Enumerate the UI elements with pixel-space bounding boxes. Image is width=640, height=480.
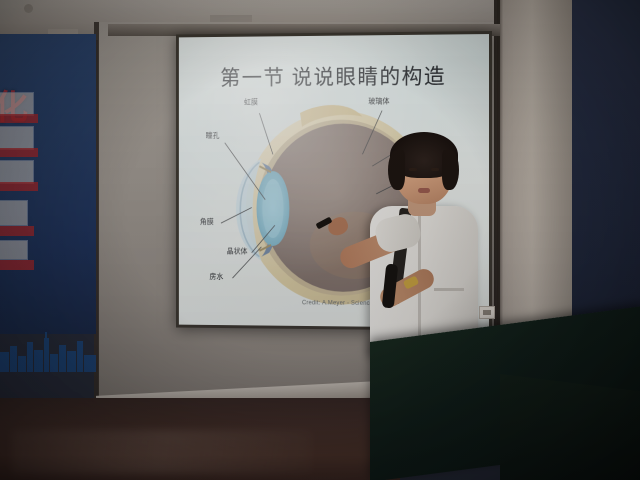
board-card: [0, 92, 34, 116]
draped-podium-side: [500, 374, 640, 480]
eye-right: [431, 168, 439, 171]
board-ribbon: [0, 182, 38, 191]
diagram-label-vitreous-body: 玻璃体: [368, 97, 389, 107]
diagram-label-pupil: 瞳孔: [206, 131, 220, 141]
diagram-label-cornea: 角膜: [200, 217, 214, 227]
eye-left: [409, 168, 417, 171]
presenter: [352, 128, 490, 353]
skyline-graphic: [0, 330, 96, 372]
screenshot-root: 化: [0, 0, 640, 480]
board-card: [0, 160, 34, 184]
diagram-label-iris: 虹膜: [244, 97, 258, 107]
diagram-label-aqueous-humor: 房水: [209, 272, 223, 282]
board-card: [0, 126, 34, 150]
hair-left: [388, 150, 405, 190]
slide-title: 第一节 说说眼睛的构造: [179, 60, 489, 92]
board-ribbon: [0, 148, 38, 157]
board-card: [0, 240, 28, 260]
wall-display-board: 化: [0, 34, 96, 334]
floor-reflection: [12, 430, 312, 474]
board-card: [0, 200, 28, 226]
wall-socket-icon[interactable]: [479, 306, 495, 319]
coat-pocket: [434, 288, 464, 291]
smoke-detector-icon: [24, 4, 33, 13]
hair-right: [442, 150, 459, 190]
ceiling-vent: [210, 14, 252, 22]
mouth: [418, 188, 430, 193]
board-ribbon: [0, 226, 34, 236]
diagram-label-lens: 晶状体: [227, 247, 248, 257]
board-ribbon: [0, 114, 38, 123]
board-ribbon: [0, 260, 34, 270]
